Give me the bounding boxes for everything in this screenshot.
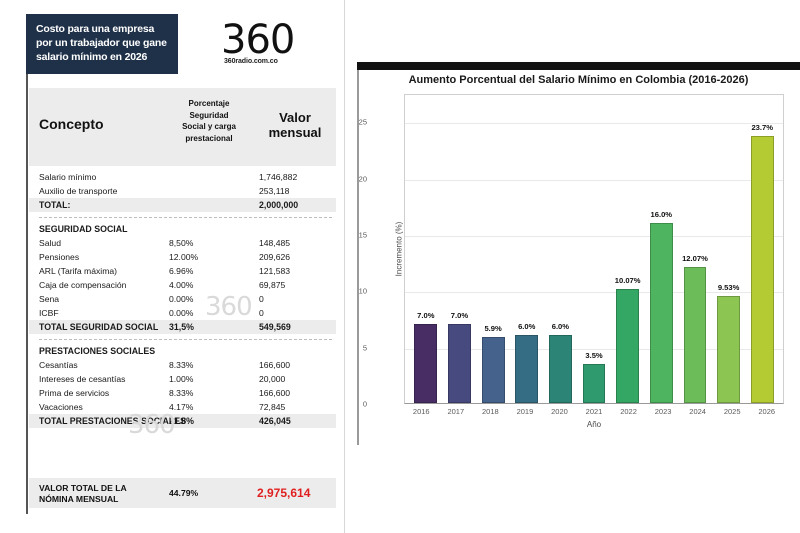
seguridad-social-rows-group: Salud8,50%148,485Pensiones12.00%209,626A… <box>29 236 336 334</box>
row-percent: 0.00% <box>169 306 193 320</box>
grand-total-label: VALOR TOTAL DE LA NÓMINA MENSUAL <box>39 483 159 505</box>
dotted-separator-2 <box>29 334 336 344</box>
table-row: Auxilio de transporte253,118 <box>29 184 336 198</box>
bar-slot[interactable]: 7.0% <box>409 95 443 403</box>
row-concept: Prima de servicios <box>39 386 109 400</box>
bar-slot[interactable]: 7.0% <box>443 95 477 403</box>
table-row: ARL (Tarifa máxima)6.96%121,583 <box>29 264 336 278</box>
table-row: TOTAL SEGURIDAD SOCIAL31,5%549,569 <box>29 320 336 334</box>
bar-value-label: 5.9% <box>476 324 510 333</box>
column-header-valor: Valor mensual <box>259 110 331 140</box>
porcentaje-line-4: prestacional <box>169 133 249 145</box>
column-header-porcentaje: Porcentaje Seguridad Social y carga pres… <box>169 98 249 144</box>
table-row: TOTAL PRESTACIONES SOCIALES21.8%426,045 <box>29 414 336 428</box>
row-value: 549,569 <box>259 320 291 334</box>
title-line-3: salario mínimo en 2026 <box>36 50 170 64</box>
title-line-1: Costo para una empresa <box>36 22 170 36</box>
y-tick-label: 20 <box>343 174 367 183</box>
bar-slot[interactable]: 9.53% <box>712 95 746 403</box>
row-value: 2,000,000 <box>259 198 298 212</box>
row-concept: Intereses de cesantías <box>39 372 125 386</box>
row-concept: Vacaciones <box>39 400 83 414</box>
chart-x-axis-label: Año <box>404 420 784 429</box>
row-value: 72,845 <box>259 400 285 414</box>
row-value: 121,583 <box>259 264 290 278</box>
table-row: TOTAL:2,000,000 <box>29 198 336 212</box>
y-tick-label: 10 <box>343 287 367 296</box>
bar[interactable] <box>448 324 471 403</box>
row-concept: Sena <box>39 292 59 306</box>
row-value: 1,746,882 <box>259 170 297 184</box>
row-value: 148,485 <box>259 236 290 250</box>
bar-slot[interactable]: 6.0% <box>544 95 578 403</box>
row-value: 0 <box>259 292 264 306</box>
porcentaje-line-1: Porcentaje <box>169 98 249 110</box>
grand-total-value: 2,975,614 <box>257 486 310 500</box>
table-row: ICBF0.00%0 <box>29 306 336 320</box>
bar-slot[interactable]: 3.5% <box>577 95 611 403</box>
y-tick-label: 15 <box>343 230 367 239</box>
chart-panel: Aumento Porcentual del Salario Mínimo en… <box>357 62 800 462</box>
row-percent: 0.00% <box>169 292 193 306</box>
dotted-separator-1 <box>29 212 336 222</box>
column-header-concepto: Concepto <box>39 116 104 132</box>
bar-value-label: 6.0% <box>544 322 578 331</box>
bar-value-label: 9.53% <box>712 283 746 292</box>
bar[interactable] <box>650 223 673 403</box>
x-tick-label: 2016 <box>404 407 438 416</box>
bar-value-label: 10.07% <box>611 276 645 285</box>
section-header-prestaciones-sociales: PRESTACIONES SOCIALES <box>29 344 336 358</box>
left-vertical-rule <box>26 14 28 514</box>
valor-line-1: Valor <box>259 110 331 125</box>
table-row: Sena0.00%0 <box>29 292 336 306</box>
table-row: Cesantías8.33%166,600 <box>29 358 336 372</box>
row-concept: ICBF <box>39 306 59 320</box>
bar[interactable] <box>717 296 740 403</box>
section-label: PRESTACIONES SOCIALES <box>39 344 155 358</box>
grand-total-label-line-2: NÓMINA MENSUAL <box>39 494 159 505</box>
row-concept: TOTAL PRESTACIONES SOCIALES <box>39 414 186 428</box>
section-label: SEGURIDAD SOCIAL <box>39 222 127 236</box>
bar-slot[interactable]: 12.07% <box>678 95 712 403</box>
bar-value-label: 16.0% <box>644 210 678 219</box>
bar-value-label: 23.7% <box>745 123 779 132</box>
bar[interactable] <box>549 335 572 403</box>
row-concept: ARL (Tarifa máxima) <box>39 264 117 278</box>
bar[interactable] <box>414 324 437 403</box>
x-tick-label: 2023 <box>646 407 680 416</box>
infographic-header: Costo para una empresa por un trabajador… <box>26 14 336 80</box>
row-percent: 4.17% <box>169 400 193 414</box>
chart-bars: 7.0%7.0%5.9%6.0%6.0%3.5%10.07%16.0%12.07… <box>405 95 783 403</box>
row-percent: 21.8% <box>169 414 194 428</box>
y-tick-label: 5 <box>343 343 367 352</box>
chart-title: Aumento Porcentual del Salario Mínimo en… <box>357 74 800 86</box>
table-row: Prima de servicios8.33%166,600 <box>29 386 336 400</box>
row-value: 166,600 <box>259 358 290 372</box>
row-value: 426,045 <box>259 414 291 428</box>
chart-y-axis-label: Incremento (%) <box>395 222 404 277</box>
x-tick-label: 2017 <box>439 407 473 416</box>
porcentaje-line-3: Social y carga <box>169 121 249 133</box>
row-concept: Caja de compensación <box>39 278 126 292</box>
table-row: Salud8,50%148,485 <box>29 236 336 250</box>
title-line-2: por un trabajador que gane <box>36 36 170 50</box>
row-value: 166,600 <box>259 386 290 400</box>
table-row: Vacaciones4.17%72,845 <box>29 400 336 414</box>
infographic-title: Costo para una empresa por un trabajador… <box>26 14 178 74</box>
table-row: Intereses de cesantías1.00%20,000 <box>29 372 336 386</box>
grand-total-row: VALOR TOTAL DE LA NÓMINA MENSUAL 44.79% … <box>29 478 336 508</box>
table-body: Salario mínimo1,746,882Auxilio de transp… <box>29 170 336 428</box>
bar-slot[interactable]: 16.0% <box>644 95 678 403</box>
table-header: Concepto Porcentaje Seguridad Social y c… <box>29 88 336 166</box>
row-value: 209,626 <box>259 250 290 264</box>
table-row: Salario mínimo1,746,882 <box>29 170 336 184</box>
row-percent: 8,50% <box>169 236 193 250</box>
bar-value-label: 6.0% <box>510 322 544 331</box>
x-tick-label: 2020 <box>542 407 576 416</box>
row-percent: 8.33% <box>169 386 193 400</box>
bar[interactable] <box>515 335 538 403</box>
row-concept: Pensiones <box>39 250 79 264</box>
x-tick-label: 2026 <box>750 407 784 416</box>
row-concept: Salud <box>39 236 61 250</box>
x-tick-label: 2025 <box>715 407 749 416</box>
section-header-seguridad-social: SEGURIDAD SOCIAL <box>29 222 336 236</box>
bar-slot[interactable]: 6.0% <box>510 95 544 403</box>
row-concept: TOTAL SEGURIDAD SOCIAL <box>39 320 158 334</box>
y-tick-label: 25 <box>343 118 367 127</box>
y-tick-label: 0 <box>343 400 367 409</box>
row-concept: Salario mínimo <box>39 170 96 184</box>
grand-total-label-line-1: VALOR TOTAL DE LA <box>39 483 159 494</box>
row-percent: 8.33% <box>169 358 193 372</box>
chart-plot-area: Incremento (%) 7.0%7.0%5.9%6.0%6.0%3.5%1… <box>404 94 784 404</box>
brand-logo: 360 360radio.com.co <box>221 20 336 65</box>
row-percent: 6.96% <box>169 264 193 278</box>
row-value: 20,000 <box>259 372 285 386</box>
x-tick-label: 2022 <box>612 407 646 416</box>
infographic-panel: Costo para una empresa por un trabajador… <box>0 0 345 533</box>
bar-slot[interactable]: 5.9% <box>476 95 510 403</box>
row-percent: 12.00% <box>169 250 198 264</box>
x-tick-label: 2019 <box>508 407 542 416</box>
table-row: Pensiones12.00%209,626 <box>29 250 336 264</box>
bar-value-label: 12.07% <box>678 254 712 263</box>
logo-360-text: 360 <box>221 20 336 60</box>
valor-line-2: mensual <box>259 125 331 140</box>
table-row: Caja de compensación4.00%69,875 <box>29 278 336 292</box>
bar-value-label: 3.5% <box>577 351 611 360</box>
bar[interactable] <box>583 364 606 403</box>
row-percent: 4.00% <box>169 278 193 292</box>
bar[interactable] <box>751 136 774 403</box>
bar[interactable] <box>616 289 639 403</box>
prestaciones-rows-group: Cesantías8.33%166,600Intereses de cesant… <box>29 358 336 428</box>
bar-slot[interactable]: 10.07% <box>611 95 645 403</box>
bar[interactable] <box>684 267 707 403</box>
porcentaje-line-2: Seguridad <box>169 110 249 122</box>
bar-slot[interactable]: 23.7% <box>745 95 779 403</box>
row-value: 0 <box>259 306 264 320</box>
x-tick-label: 2018 <box>473 407 507 416</box>
row-concept: Cesantías <box>39 358 78 372</box>
bar-value-label: 7.0% <box>443 311 477 320</box>
chart-top-bar <box>357 62 800 70</box>
row-concept: Auxilio de transporte <box>39 184 117 198</box>
row-percent: 1.00% <box>169 372 193 386</box>
row-percent: 31,5% <box>169 320 194 334</box>
x-tick-label: 2021 <box>577 407 611 416</box>
grand-total-percent: 44.79% <box>169 488 198 498</box>
row-concept: TOTAL: <box>39 198 70 212</box>
row-value: 69,875 <box>259 278 285 292</box>
bar[interactable] <box>482 337 505 404</box>
bar-value-label: 7.0% <box>409 311 443 320</box>
row-value: 253,118 <box>259 184 289 198</box>
x-tick-label: 2024 <box>681 407 715 416</box>
base-rows-group: Salario mínimo1,746,882Auxilio de transp… <box>29 170 336 212</box>
